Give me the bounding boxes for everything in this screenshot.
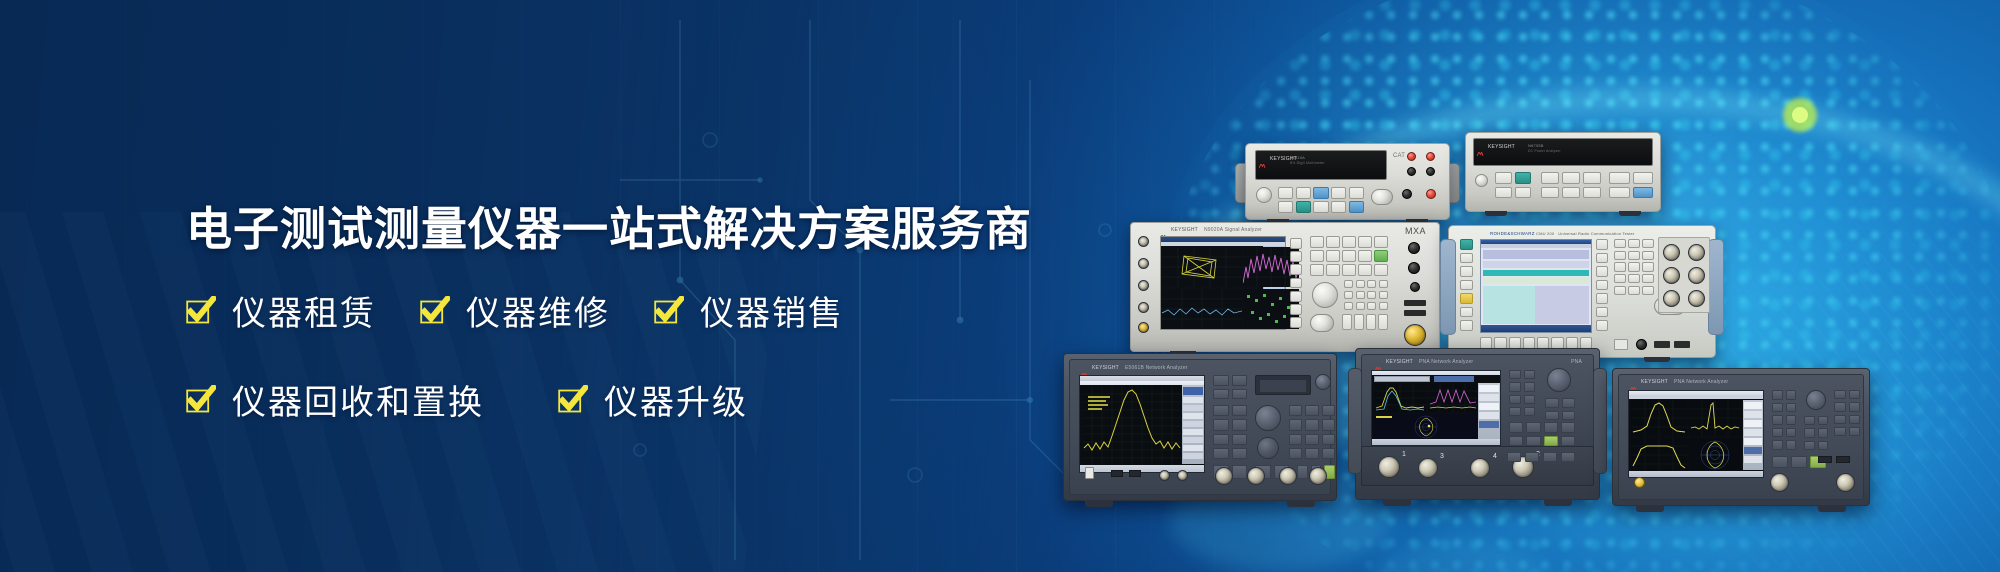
arrow-pad bbox=[1257, 437, 1279, 459]
feature-row-secondary: 仪器回收和置换 仪器升级 bbox=[186, 375, 1106, 424]
usb-memory-port bbox=[1085, 467, 1094, 479]
input-terminal bbox=[1426, 152, 1435, 161]
power-knob bbox=[1475, 174, 1488, 187]
feature-label: 仪器维修 bbox=[466, 286, 610, 335]
usb-port bbox=[1129, 470, 1141, 477]
check-box-icon bbox=[558, 385, 588, 415]
usb-port bbox=[1674, 341, 1690, 348]
vna-display bbox=[1628, 390, 1764, 478]
instrument-digital-multimeter-right: KEYSIGHT N6705B DC Power Analyzer bbox=[1465, 132, 1661, 212]
feature-label: 仪器租赁 bbox=[232, 286, 376, 335]
usb-port bbox=[1654, 341, 1670, 348]
instrument-network-analyzer-right: KEYSIGHT PNA Network Analyzer bbox=[1612, 368, 1870, 506]
feature-item-instrument-recycling-trade-in[interactable]: 仪器回收和置换 bbox=[186, 375, 484, 424]
test-port-3 bbox=[1418, 458, 1438, 478]
front-knob bbox=[1310, 314, 1334, 332]
test-port-2 bbox=[1836, 473, 1855, 492]
marketing-copy: 电子测试测量仪器一站式解决方案服务商 仪器租赁 bbox=[186, 206, 1106, 424]
check-box-icon bbox=[420, 296, 450, 326]
port-extension-module bbox=[1255, 375, 1311, 395]
rf-connector bbox=[1138, 322, 1149, 333]
lan-port bbox=[1614, 339, 1628, 350]
usb-port bbox=[1836, 456, 1850, 463]
test-port-3 bbox=[1279, 467, 1297, 485]
test-port-1 bbox=[1215, 467, 1233, 485]
navigation-pad bbox=[1371, 189, 1393, 205]
instrument-digital-multimeter-left: KEYSIGHT 34410A 6½ Digit Multimeter CAT bbox=[1245, 143, 1450, 220]
rf-connector bbox=[1138, 236, 1149, 247]
feature-row-primary: 仪器租赁 仪器维修 bbox=[186, 286, 1106, 335]
feature-item-instrument-rental[interactable]: 仪器租赁 bbox=[186, 286, 376, 335]
test-port-2 bbox=[1247, 467, 1265, 485]
instrument-radio-communication-tester: ROHDE&SCHWARZ CMU 200 Universal Radio Co… bbox=[1448, 225, 1716, 358]
tester-display bbox=[1480, 239, 1592, 333]
input-terminal bbox=[1407, 167, 1416, 176]
bnc-connector bbox=[1408, 262, 1420, 274]
test-port-4 bbox=[1309, 467, 1327, 485]
probe-connector bbox=[1159, 470, 1170, 481]
promo-banner: KEYSIGHT 34410A 6½ Digit Multimeter CAT bbox=[0, 0, 2000, 572]
vna-display bbox=[1371, 370, 1501, 446]
instrument-handle bbox=[1708, 239, 1724, 335]
page-title: 电子测试测量仪器一站式解决方案服务商 bbox=[186, 206, 1106, 252]
feature-label: 仪器销售 bbox=[700, 286, 844, 335]
bnc-connector bbox=[1408, 242, 1420, 254]
analyzer-display bbox=[1160, 236, 1286, 330]
rf-connector bbox=[1138, 302, 1149, 313]
check-box-icon bbox=[186, 385, 216, 415]
test-port-1 bbox=[1770, 473, 1789, 492]
power-switch bbox=[1315, 374, 1331, 390]
feature-label: 仪器升级 bbox=[604, 375, 748, 424]
instrument-handle bbox=[1593, 368, 1607, 474]
check-box-icon bbox=[186, 296, 216, 326]
usb-port bbox=[1404, 300, 1426, 306]
service-feature-list: 仪器租赁 仪器维修 bbox=[186, 286, 1106, 424]
bnc-connector bbox=[1410, 282, 1420, 292]
rf-input-connector bbox=[1404, 324, 1426, 346]
usb-port bbox=[1404, 310, 1426, 316]
input-terminal bbox=[1426, 189, 1436, 199]
test-port-1 bbox=[1378, 456, 1400, 478]
navigation-knob bbox=[1255, 405, 1281, 431]
rf-port-panel bbox=[1658, 237, 1710, 313]
probe-connector bbox=[1177, 470, 1188, 481]
input-terminal bbox=[1402, 189, 1412, 199]
instrument-handle bbox=[1348, 368, 1362, 474]
rf-connector bbox=[1138, 280, 1149, 291]
navigation-knob bbox=[1806, 390, 1826, 410]
status-indicator bbox=[1634, 477, 1645, 488]
instrument-network-analyzer-center: KEYSIGHT PNA Network Analyzer PNA bbox=[1355, 348, 1600, 500]
navigation-knob bbox=[1547, 368, 1571, 392]
input-terminal bbox=[1407, 152, 1416, 161]
rf-connector bbox=[1138, 258, 1149, 269]
feature-item-instrument-repair[interactable]: 仪器维修 bbox=[420, 286, 610, 335]
vna-keypad-panel bbox=[1213, 375, 1323, 461]
usb-port bbox=[1111, 470, 1123, 477]
feature-label: 仪器回收和置换 bbox=[232, 375, 484, 424]
feature-item-instrument-sales[interactable]: 仪器销售 bbox=[654, 286, 844, 335]
feature-item-instrument-upgrade[interactable]: 仪器升级 bbox=[558, 375, 748, 424]
instrument-handle bbox=[1440, 239, 1456, 335]
navigation-knob bbox=[1312, 282, 1338, 308]
rotary-knob bbox=[1256, 187, 1272, 203]
bnc-connector bbox=[1636, 339, 1647, 350]
test-port-4 bbox=[1470, 458, 1490, 478]
input-terminal bbox=[1426, 167, 1435, 176]
instrument-mxa-signal-analyzer: KEYSIGHT N9020A Signal Analyzer MXA bbox=[1130, 222, 1440, 352]
check-box-icon bbox=[654, 296, 684, 326]
usb-port bbox=[1818, 456, 1832, 463]
